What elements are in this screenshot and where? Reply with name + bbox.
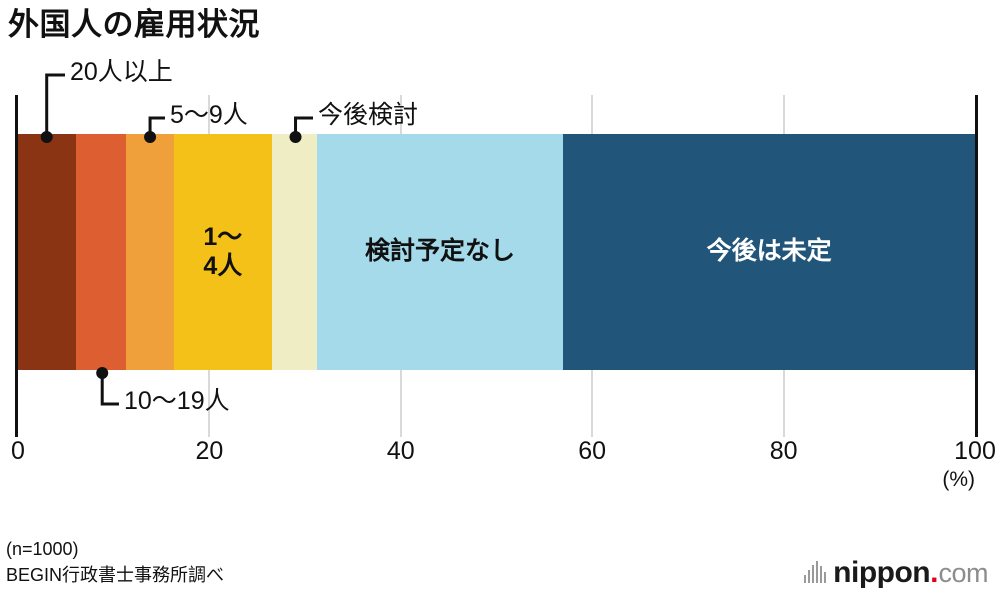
callout-label-0: 20人以上 [70,60,173,85]
bar-segment-6[interactable]: 今後は未定 [563,134,975,370]
bar-segment-2[interactable] [126,134,174,370]
tick-label-60: 60 [578,437,606,466]
stacked-bar: 1〜 4人検討予定なし今後は未定 [18,134,975,370]
bar-segment-label-3: 1〜 4人 [203,223,242,282]
bar-segment-0[interactable] [18,134,76,370]
axis-rule-right [975,95,978,437]
bar-segment-5[interactable]: 検討予定なし [317,134,564,370]
bar-segment-label-5: 検討予定なし [365,237,515,267]
logo-dot: . [930,556,938,590]
logo-wordmark: nippon [833,556,930,590]
plot-area: 1〜 4人検討予定なし今後は未定 [18,95,975,437]
logo-tld: com [938,558,988,589]
axis-unit-label: (%) [942,468,975,492]
nippon-com-logo[interactable]: nippon . com [804,556,988,586]
bar-segment-3[interactable]: 1〜 4人 [174,134,272,370]
chart-container: 外国人の雇用状況 1〜 4人検討予定なし今後は未定 20人以上5〜9人今後検討1… [0,0,1000,598]
bar-segment-4[interactable] [272,134,317,370]
tick-label-0: 0 [11,437,25,466]
tick-label-20: 20 [195,437,223,466]
bar-segment-label-6: 今後は未定 [707,237,832,267]
tick-label-80: 80 [770,437,798,466]
footnote: (n=1000) BEGIN行政書士事務所調べ [6,536,224,588]
tick-label-40: 40 [387,437,415,466]
logo-bars-icon [804,561,828,583]
bar-segment-1[interactable] [76,134,126,370]
tick-label-100: 100 [954,437,996,466]
page-title: 外国人の雇用状況 [8,8,260,42]
